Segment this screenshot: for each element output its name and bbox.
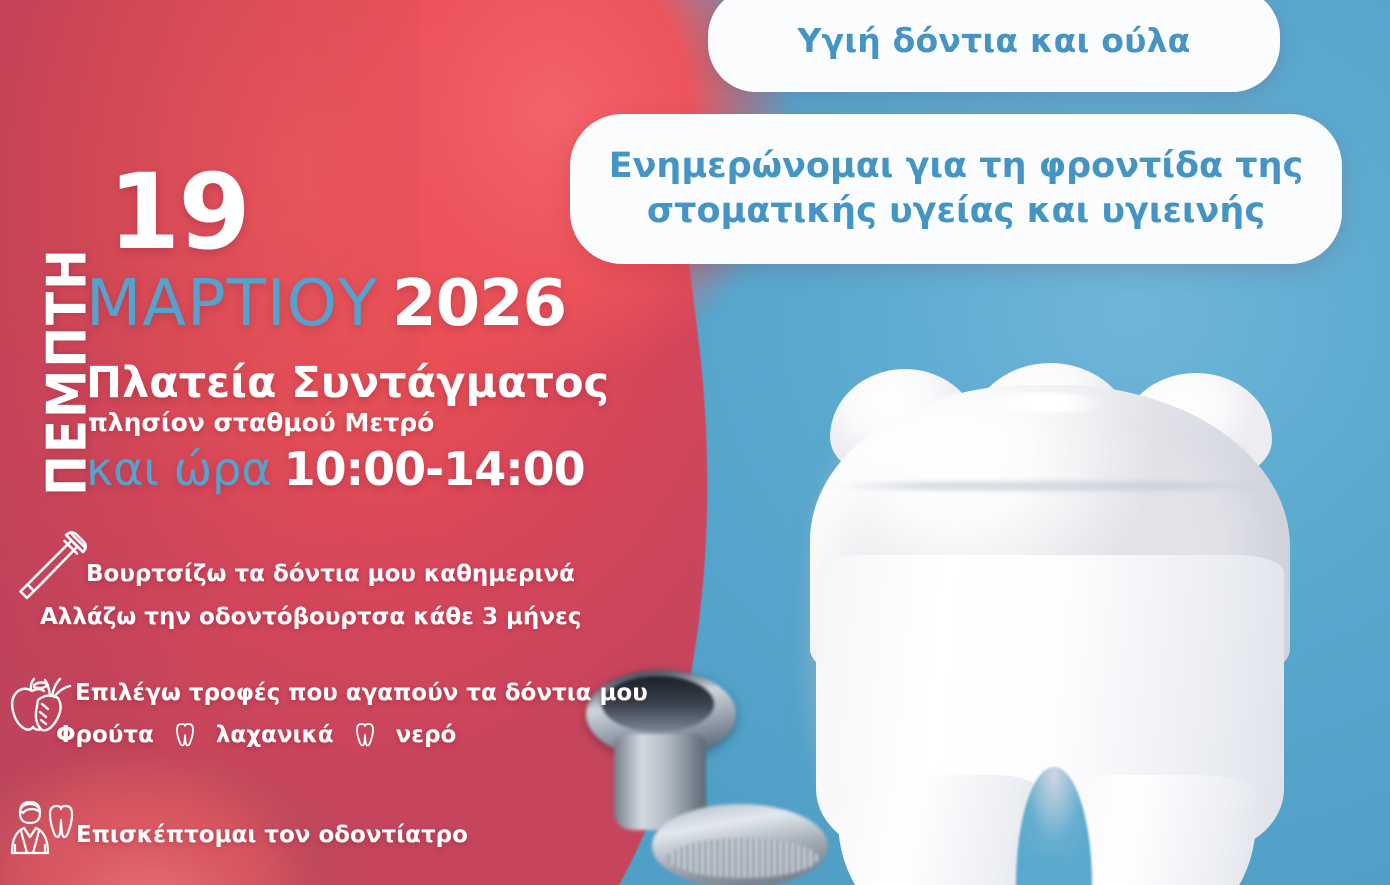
tooth-bullet-icon (174, 722, 196, 748)
tip-brushing-line2: Αλλάζω την οδοντόβουρτσα κάθε 3 μήνες (40, 604, 581, 630)
event-venue: Πλατεία Συντάγματος (86, 358, 609, 408)
event-time: και ώρα10:00-14:00 (86, 444, 585, 495)
tooth-bullet-icon-2 (354, 722, 376, 748)
dental-health-poster: Υγιή δόντια και ούλα Ενημερώνομαι για τη… (0, 0, 1390, 885)
tooth-groove-line (826, 481, 1276, 491)
tip-food-items: Φρούτα λαχανικά νερό (56, 722, 456, 748)
dentist-icon (8, 797, 76, 859)
toothbrush-icon (14, 531, 88, 609)
tip-dentist-line1: Επισκέπτομαι τον οδοντίατρο (76, 822, 468, 848)
tip-food-item-water: νερό (396, 722, 457, 748)
tooth-model-photo (810, 385, 1290, 885)
event-month-year: ΜΑΡΤΙΟΥ2026 (86, 272, 566, 336)
tooth-specular-highlight (982, 393, 1108, 413)
headline-bubble-primary-text: Υγιή δόντια και ούλα (797, 21, 1190, 60)
event-day-number: 19 (108, 160, 249, 264)
tip-brushing-line1: Βουρτσίζω τα δόντια μου καθημερινά (86, 561, 575, 587)
event-time-label: και ώρα (86, 442, 272, 496)
stethoscope-rim (668, 838, 818, 878)
tip-food-item-fruit: Φρούτα (56, 722, 154, 748)
headline-bubble-secondary-line1: Ενημερώνομαι για τη φροντίδα της (609, 144, 1304, 189)
headline-bubble-secondary: Ενημερώνομαι για τη φροντίδα της στοματι… (570, 114, 1342, 264)
tip-food-line1: Επιλέγω τροφές που αγαπούν τα δόντια μου (75, 680, 648, 706)
headline-bubble-secondary-line2: στοματικής υγείας και υγιεινής (609, 189, 1304, 234)
event-venue-note: πλησίον σταθμού Μετρό (88, 408, 434, 437)
tip-food-item-vegetables: λαχανικά (216, 722, 334, 748)
tooth-root-left (838, 775, 1038, 885)
event-year: 2026 (392, 267, 566, 341)
headline-bubble-primary: Υγιή δόντια και ούλα (708, 0, 1280, 92)
event-time-value: 10:00-14:00 (284, 442, 585, 496)
event-month: ΜΑΡΤΙΟΥ (86, 267, 378, 341)
